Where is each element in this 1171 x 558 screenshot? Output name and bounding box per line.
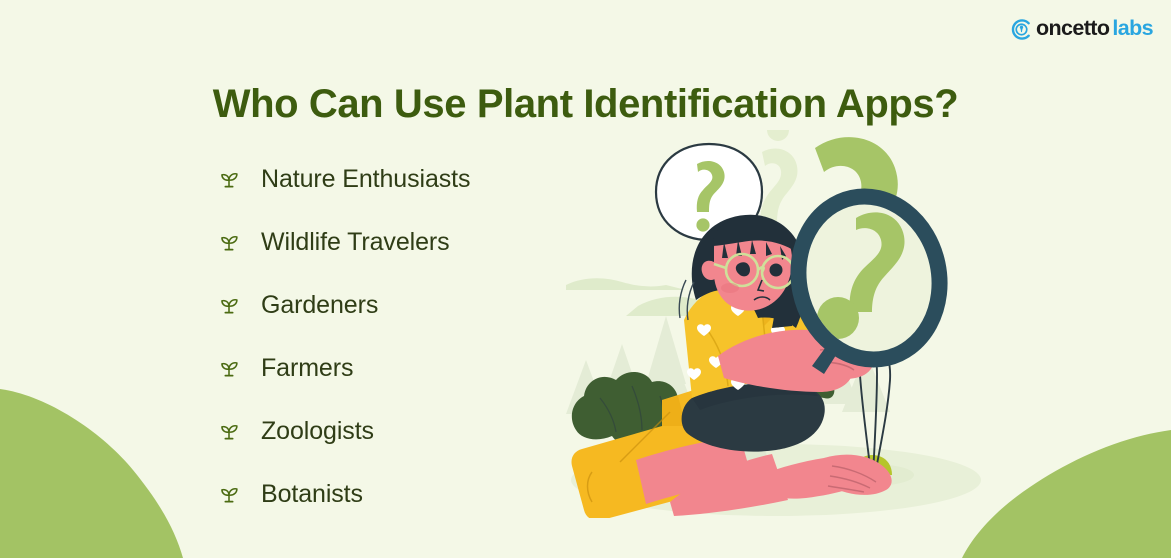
list-item-label: Farmers <box>261 356 353 381</box>
list-item-label: Nature Enthusiasts <box>261 167 470 192</box>
audience-list: Nature Enthusiasts Wildlife Travelers Ga… <box>218 148 558 526</box>
list-item: Botanists <box>218 463 558 526</box>
list-item: Farmers <box>218 337 558 400</box>
list-item: Nature Enthusiasts <box>218 148 558 211</box>
list-item-label: Wildlife Travelers <box>261 230 450 255</box>
list-item: Gardeners <box>218 274 558 337</box>
brand-name-secondary: labs <box>1112 18 1153 40</box>
illustration-girl-with-magnifying-glass <box>566 130 986 518</box>
brand-name-primary: oncetto <box>1036 18 1109 40</box>
list-item: Zoologists <box>218 400 558 463</box>
list-item: Wildlife Travelers <box>218 211 558 274</box>
list-item-label: Zoologists <box>261 419 374 444</box>
sprout-icon <box>218 169 240 191</box>
concetto-c-mark-icon <box>1011 19 1032 40</box>
brand-logo[interactable]: oncettolabs <box>1011 14 1153 44</box>
sprout-icon <box>218 484 240 506</box>
corner-blob-bottom-left <box>0 389 183 558</box>
infographic-canvas: oncettolabs Who Can Use Plant Identifica… <box>0 0 1171 558</box>
corner-blob-bottom-right <box>962 430 1171 558</box>
list-item-label: Gardeners <box>261 293 378 318</box>
page-title: Who Can Use Plant Identification Apps? <box>0 82 1171 127</box>
sprout-icon <box>218 358 240 380</box>
sprout-icon <box>218 421 240 443</box>
list-item-label: Botanists <box>261 482 363 507</box>
sprout-icon <box>218 295 240 317</box>
sprout-icon <box>218 232 240 254</box>
